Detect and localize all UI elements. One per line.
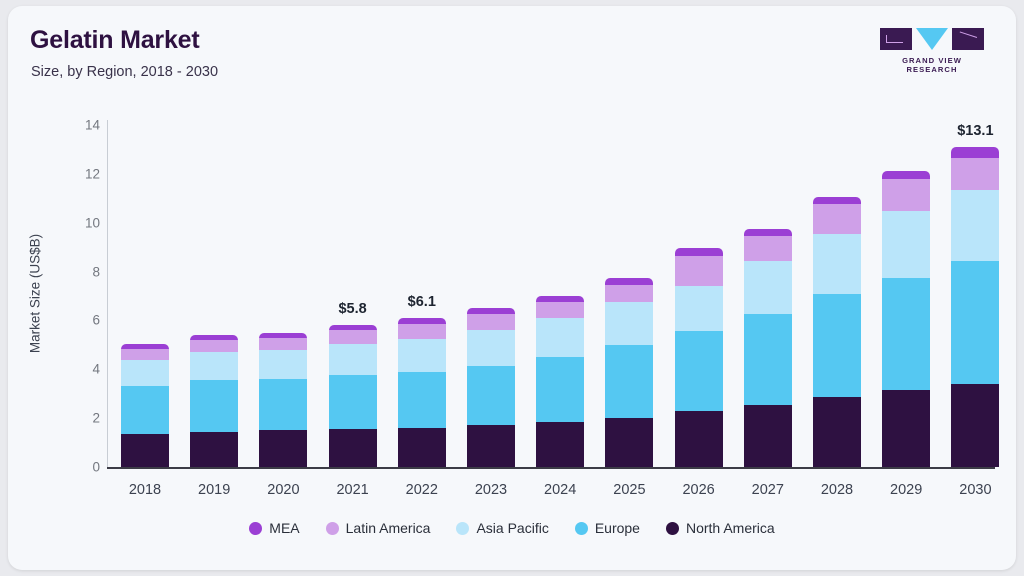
x-axis-tick-label: 2028 [821, 482, 853, 498]
bar-segment[interactable] [329, 429, 377, 467]
legend-item-label: Asia Pacific [476, 520, 548, 536]
bar-segment[interactable] [813, 234, 861, 294]
bar-segment[interactable] [190, 335, 238, 340]
bar-segment[interactable] [605, 418, 653, 467]
bar-segment[interactable] [398, 428, 446, 467]
bar-group[interactable] [605, 278, 653, 467]
legend-item-label: North America [686, 520, 775, 536]
bar-segment[interactable] [329, 325, 377, 330]
bar-segment[interactable] [329, 330, 377, 343]
bar-segment[interactable] [605, 285, 653, 302]
bar-segment[interactable] [675, 286, 723, 331]
bar-segment[interactable] [605, 278, 653, 285]
bar-group[interactable] [536, 296, 584, 467]
x-axis-tick-label: 2021 [336, 482, 368, 498]
legend-item-label: Europe [595, 520, 640, 536]
bar-segment[interactable] [121, 344, 169, 349]
bar-segment[interactable] [467, 308, 515, 314]
x-axis-tick-label: 2018 [129, 482, 161, 498]
bar-group[interactable] [744, 229, 792, 467]
legend-item[interactable]: Asia Pacific [456, 520, 548, 536]
bar-segment[interactable] [329, 344, 377, 376]
bar-segment[interactable] [951, 190, 999, 261]
legend-item-label: Latin America [346, 520, 431, 536]
bar-segment[interactable] [675, 331, 723, 410]
x-axis-tick-label: 2026 [682, 482, 714, 498]
bar-segment[interactable] [467, 425, 515, 467]
bar-group[interactable] [467, 308, 515, 467]
bar-segment[interactable] [398, 339, 446, 372]
bar-segment[interactable] [536, 422, 584, 467]
bar-segment[interactable] [121, 349, 169, 360]
bar-segment[interactable] [951, 158, 999, 190]
x-axis-tick-label: 2022 [406, 482, 438, 498]
bar-segment[interactable] [121, 434, 169, 467]
legend-color-swatch-icon [249, 522, 262, 535]
bar-segment[interactable] [536, 318, 584, 357]
bar-segment[interactable] [467, 314, 515, 330]
stacked-bar-chart: Market Size (US$B) 02468101214 201820192… [8, 6, 1016, 570]
bar-value-label: $13.1 [957, 123, 993, 139]
bar-segment[interactable] [744, 314, 792, 404]
bar-segment[interactable] [467, 330, 515, 365]
bar-segment[interactable] [882, 390, 930, 467]
bar-group[interactable] [951, 147, 999, 467]
bar-segment[interactable] [121, 360, 169, 387]
bar-value-label: $6.1 [408, 294, 436, 310]
bar-segment[interactable] [882, 179, 930, 211]
legend-color-swatch-icon [575, 522, 588, 535]
bar-segment[interactable] [190, 432, 238, 467]
legend-color-swatch-icon [666, 522, 679, 535]
bar-segment[interactable] [951, 384, 999, 467]
bar-segment[interactable] [398, 372, 446, 428]
bar-group[interactable] [329, 325, 377, 467]
bar-segment[interactable] [882, 278, 930, 390]
bar-segment[interactable] [675, 256, 723, 287]
bar-group[interactable] [813, 197, 861, 467]
legend-item-label: MEA [269, 520, 299, 536]
bar-segment[interactable] [190, 380, 238, 431]
x-axis-tick-label: 2027 [752, 482, 784, 498]
bar-segment[interactable] [951, 147, 999, 158]
bar-segment[interactable] [398, 324, 446, 339]
x-axis-tick-label: 2020 [267, 482, 299, 498]
x-axis-tick-label: 2024 [544, 482, 576, 498]
bar-segment[interactable] [536, 357, 584, 422]
bar-group[interactable] [675, 248, 723, 467]
bar-group[interactable] [190, 335, 238, 467]
bar-segment[interactable] [744, 405, 792, 467]
bar-segment[interactable] [813, 294, 861, 398]
bar-group[interactable] [882, 171, 930, 467]
bar-segment[interactable] [259, 338, 307, 350]
bar-segment[interactable] [675, 411, 723, 467]
bar-value-label: $5.8 [338, 301, 366, 317]
legend-item[interactable]: MEA [249, 520, 299, 536]
bar-segment[interactable] [605, 302, 653, 345]
bar-segment[interactable] [744, 236, 792, 260]
bar-group[interactable] [259, 333, 307, 467]
bar-segment[interactable] [536, 302, 584, 318]
bar-segment[interactable] [259, 350, 307, 379]
bar-segment[interactable] [951, 261, 999, 384]
bar-group[interactable] [398, 318, 446, 467]
x-axis-tick-label: 2023 [475, 482, 507, 498]
bars-layer: 2018201920202021$5.82022$6.1202320242025… [8, 6, 1016, 570]
x-axis-tick-label: 2025 [613, 482, 645, 498]
bar-segment[interactable] [259, 333, 307, 338]
legend-item[interactable]: Europe [575, 520, 640, 536]
bar-segment[interactable] [882, 171, 930, 178]
bar-segment[interactable] [259, 379, 307, 430]
bar-segment[interactable] [813, 197, 861, 204]
legend-color-swatch-icon [326, 522, 339, 535]
chart-legend: MEALatin AmericaAsia PacificEuropeNorth … [8, 520, 1016, 536]
legend-item[interactable]: North America [666, 520, 775, 536]
x-axis-tick-label: 2029 [890, 482, 922, 498]
legend-color-swatch-icon [456, 522, 469, 535]
bar-segment[interactable] [744, 229, 792, 236]
bar-segment[interactable] [813, 397, 861, 467]
bar-group[interactable] [121, 344, 169, 467]
legend-item[interactable]: Latin America [326, 520, 431, 536]
bar-segment[interactable] [121, 386, 169, 434]
bar-segment[interactable] [813, 204, 861, 233]
bar-segment[interactable] [259, 430, 307, 467]
bar-segment[interactable] [190, 340, 238, 352]
bar-segment[interactable] [398, 318, 446, 324]
bar-segment[interactable] [190, 352, 238, 380]
bar-segment[interactable] [467, 366, 515, 426]
bar-segment[interactable] [329, 375, 377, 429]
x-axis-tick-label: 2030 [959, 482, 991, 498]
bar-segment[interactable] [675, 248, 723, 255]
x-axis-tick-label: 2019 [198, 482, 230, 498]
bar-segment[interactable] [605, 345, 653, 418]
bar-segment[interactable] [744, 261, 792, 315]
bar-segment[interactable] [536, 296, 584, 302]
bar-segment[interactable] [882, 211, 930, 278]
chart-card: Gelatin Market Size, by Region, 2018 - 2… [8, 6, 1016, 570]
